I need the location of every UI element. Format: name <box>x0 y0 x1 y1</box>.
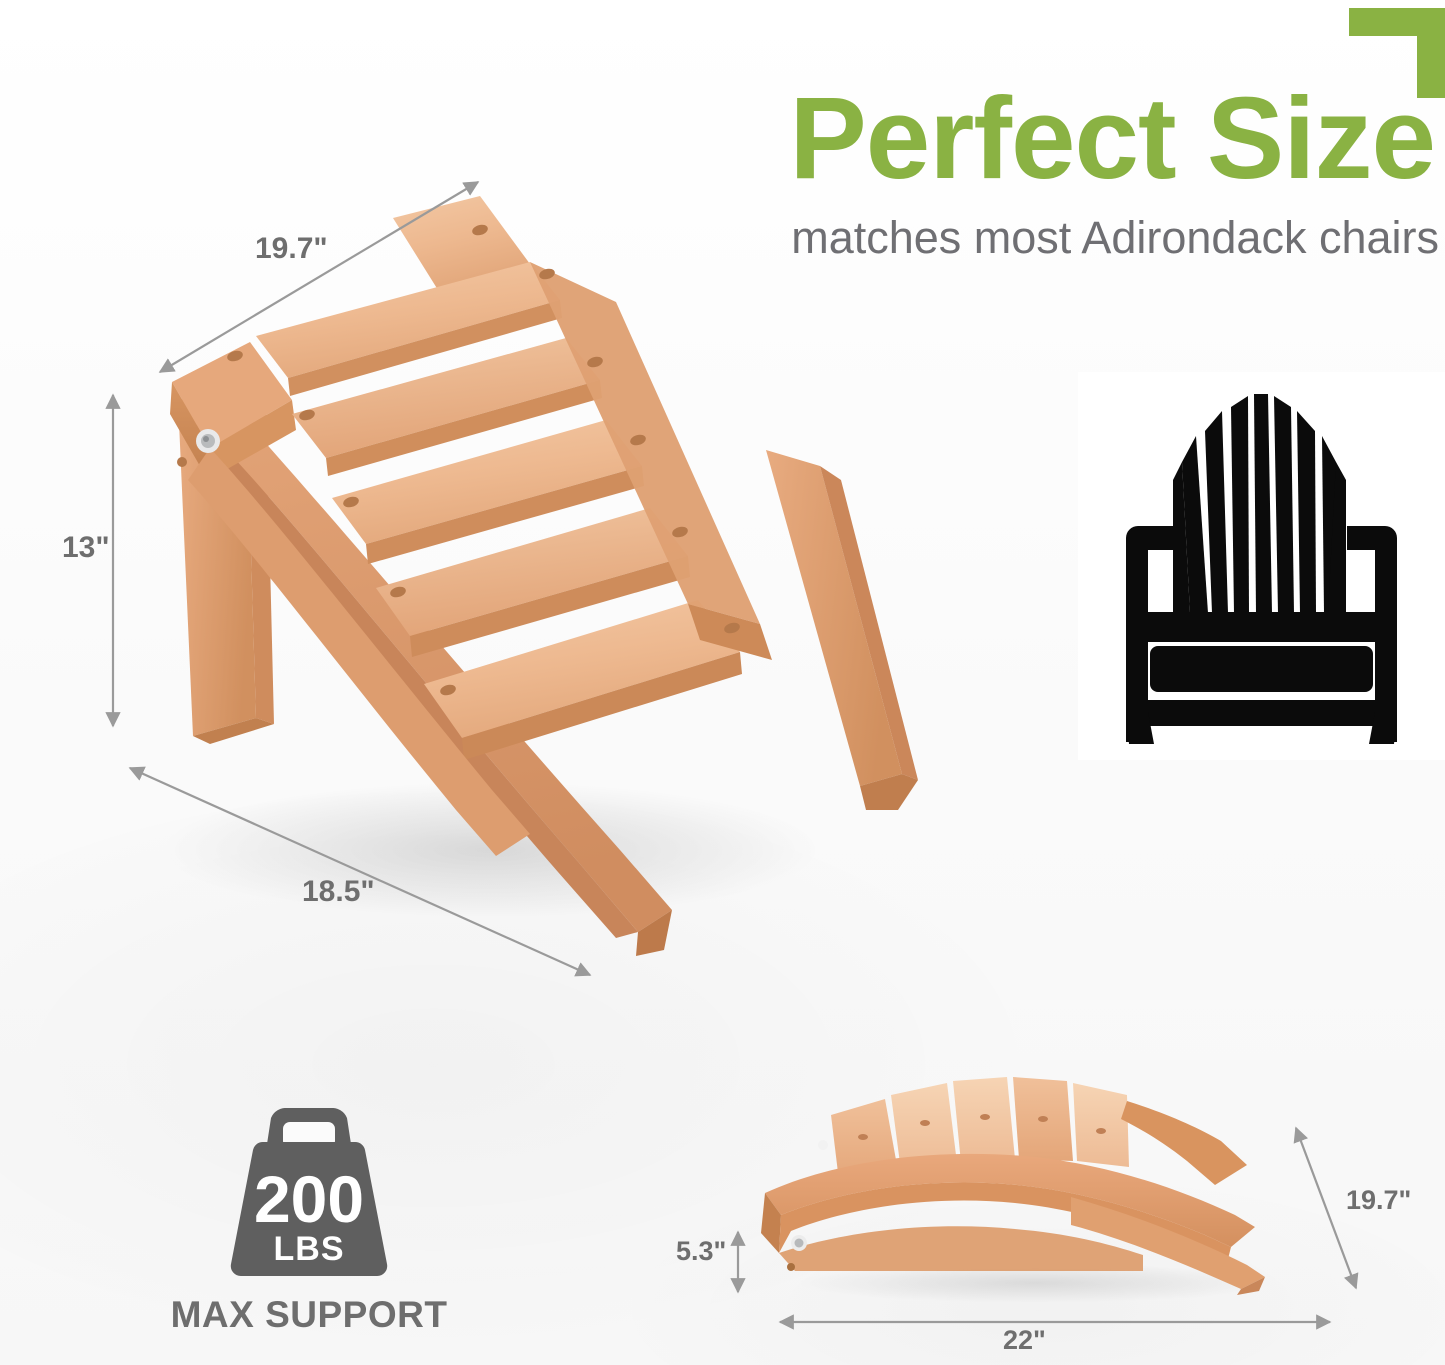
dimension-19-7-folded-depth: 19.7" <box>1346 1185 1411 1216</box>
max-support-caption: MAX SUPPORT <box>144 1294 474 1336</box>
weight-value: 200 <box>254 1162 364 1236</box>
max-support-badge: 200 LBS MAX SUPPORT <box>144 1108 474 1336</box>
ottoman-folded-illustration <box>735 1075 1325 1305</box>
dimension-19-7-top: 19.7" <box>255 232 328 266</box>
infographic-canvas: Perfect Size matches most Adirondack cha… <box>0 0 1445 1365</box>
weight-unit: LBS <box>274 1230 345 1268</box>
weight-kettlebell-icon: 200 LBS <box>209 1108 409 1282</box>
ottoman-unfolded-illustration <box>60 150 940 980</box>
dimension-22-folded-width: 22" <box>1003 1325 1046 1356</box>
dimension-5-3-folded-height: 5.3" <box>676 1236 726 1267</box>
dimension-18-5-depth: 18.5" <box>302 875 375 909</box>
adirondack-chair-silhouette-icon <box>1078 372 1445 760</box>
dimension-13-height: 13" <box>62 531 110 565</box>
